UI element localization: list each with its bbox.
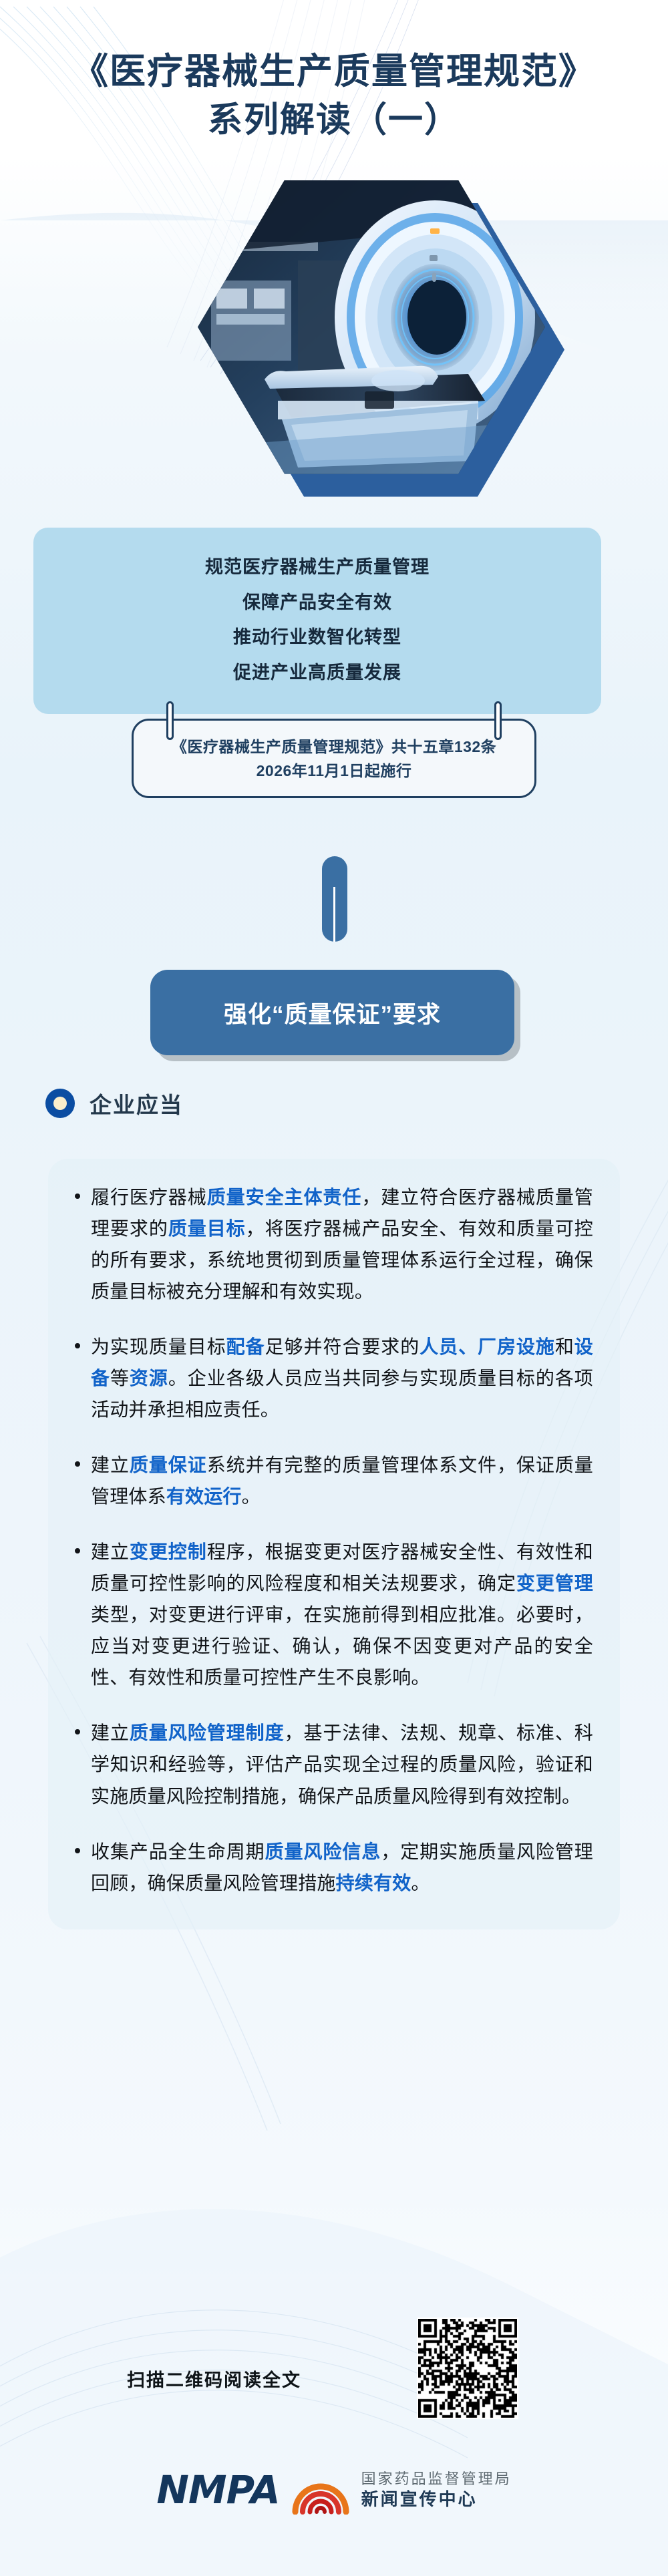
highlight-term: 资源 bbox=[130, 1368, 168, 1389]
bullet-item: 为实现质量目标配备足够并符合要求的人员、厂房设施和设备等资源。企业各级人员应当共… bbox=[71, 1331, 593, 1425]
slogan-line-3: 推动行业数智化转型 bbox=[33, 620, 601, 656]
bullet-text: 。 bbox=[411, 1873, 430, 1893]
highlight-term: 质量目标 bbox=[168, 1218, 246, 1239]
slogan-line-4: 促进产业高质量发展 bbox=[33, 656, 601, 691]
qr-row: 扫描二维码阅读全文 bbox=[0, 2311, 668, 2424]
bullet-item: 建立变更控制程序，根据变更对医疗器械安全性、有效性和质量可控性影响的风险程度和相… bbox=[71, 1536, 593, 1693]
bullet-text: 。 bbox=[242, 1486, 261, 1507]
content-heading: 企业应当 bbox=[45, 1087, 183, 1119]
section-banner-label: 强化“质量保证”要求 bbox=[224, 996, 441, 1030]
content-heading-label: 企业应当 bbox=[90, 1087, 183, 1119]
bullet-text: 建立 bbox=[91, 1455, 130, 1475]
qr-caption: 扫描二维码阅读全文 bbox=[127, 2366, 301, 2392]
highlight-term: 有效运行 bbox=[166, 1486, 242, 1507]
bullet-item: 收集产品全生命周期质量风险信息，定期实施质量风险管理回顾，确保质量风险管理措施持… bbox=[71, 1836, 593, 1899]
slogan-panel: 规范医疗器械生产质量管理 保障产品安全有效 推动行业数智化转型 促进产业高质量发… bbox=[33, 528, 601, 714]
ring-dot-icon bbox=[45, 1089, 75, 1118]
bullet-item: 建立质量风险管理制度，基于法律、法规、规章、标准、科学知识和经验等，评估产品实现… bbox=[71, 1717, 593, 1811]
highlight-term: 配备 bbox=[226, 1336, 265, 1357]
footer: 扫描二维码阅读全文 NMPA 国家药品监督管理局 新闻宣传中心 bbox=[0, 2311, 668, 2530]
ribbon-tab-icon bbox=[322, 856, 347, 942]
highlight-term: 人员、厂房设施 bbox=[420, 1336, 555, 1357]
nmpa-arc-icon bbox=[292, 2465, 349, 2515]
nmpa-logo-row: NMPA 国家药品监督管理局 新闻宣传中心 bbox=[0, 2450, 668, 2530]
bullet-text: 类型，对变更进行评审，在实施前得到相应批准。必要时，应当对变更进行验证、确认，确… bbox=[91, 1604, 593, 1688]
bullet-item: 建立质量保证系统并有完整的质量管理体系文件，保证质量管理体系有效运行。 bbox=[71, 1449, 593, 1512]
page-title: 《医疗器械生产质量管理规范》 系列解读（一） bbox=[0, 0, 668, 143]
highlight-term: 质量保证 bbox=[130, 1455, 207, 1475]
bullet-text: 收集产品全生命周期 bbox=[91, 1841, 265, 1862]
title-line-1: 《医疗器械生产质量管理规范》 bbox=[0, 48, 668, 94]
note-line-1: 《医疗器械生产质量管理规范》共十五章132条 bbox=[146, 735, 522, 759]
org-line-2: 新闻宣传中心 bbox=[361, 2489, 512, 2511]
highlight-term: 质量风险信息 bbox=[265, 1841, 381, 1862]
title-line-2: 系列解读（一） bbox=[0, 98, 668, 143]
slogan-line-1: 规范医疗器械生产质量管理 bbox=[33, 550, 601, 586]
highlight-term: 持续有效 bbox=[336, 1873, 411, 1893]
bullet-text: 建立 bbox=[91, 1722, 130, 1743]
bullet-list: 履行医疗器械质量安全主体责任，建立符合医疗器械质量管理要求的质量目标，将医疗器械… bbox=[71, 1181, 593, 1899]
bullet-item: 履行医疗器械质量安全主体责任，建立符合医疗器械质量管理要求的质量目标，将医疗器械… bbox=[71, 1181, 593, 1307]
pin-right-icon bbox=[494, 701, 502, 740]
bullet-text: 履行医疗器械 bbox=[91, 1187, 207, 1208]
slogan-line-2: 保障产品安全有效 bbox=[33, 586, 601, 621]
note-card-wrapper: 《医疗器械生产质量管理规范》共十五章132条 2026年11月1日起施行 bbox=[132, 719, 536, 798]
bullet-text: 等 bbox=[110, 1368, 130, 1389]
content-card: 履行医疗器械质量安全主体责任，建立符合医疗器械质量管理要求的质量目标，将医疗器械… bbox=[48, 1159, 620, 1929]
hero-image-block bbox=[0, 155, 668, 502]
poster-page: 《医疗器械生产质量管理规范》 系列解读（一） bbox=[0, 0, 668, 2576]
nmpa-wordmark: NMPA bbox=[156, 2467, 279, 2513]
bullet-text: 建立 bbox=[91, 1541, 130, 1562]
org-name: 国家药品监督管理局 新闻宣传中心 bbox=[361, 2470, 512, 2510]
note-line-2: 2026年11月1日起施行 bbox=[146, 759, 522, 783]
highlight-term: 变更控制 bbox=[130, 1541, 207, 1562]
bullet-text: 足够并符合要求的 bbox=[265, 1336, 420, 1357]
pin-left-icon bbox=[166, 701, 174, 740]
bullet-text: 和 bbox=[555, 1336, 574, 1357]
section-banner: 强化“质量保证”要求 bbox=[150, 970, 514, 1055]
bullet-text: 为实现质量目标 bbox=[91, 1336, 226, 1357]
org-line-1: 国家药品监督管理局 bbox=[361, 2470, 512, 2489]
highlight-term: 质量安全主体责任 bbox=[207, 1187, 362, 1208]
highlight-term: 变更管理 bbox=[516, 1573, 593, 1594]
regulation-note-card: 《医疗器械生产质量管理规范》共十五章132条 2026年11月1日起施行 bbox=[132, 719, 536, 798]
highlight-term: 质量风险管理制度 bbox=[130, 1722, 285, 1743]
qr-code[interactable] bbox=[417, 2318, 518, 2419]
